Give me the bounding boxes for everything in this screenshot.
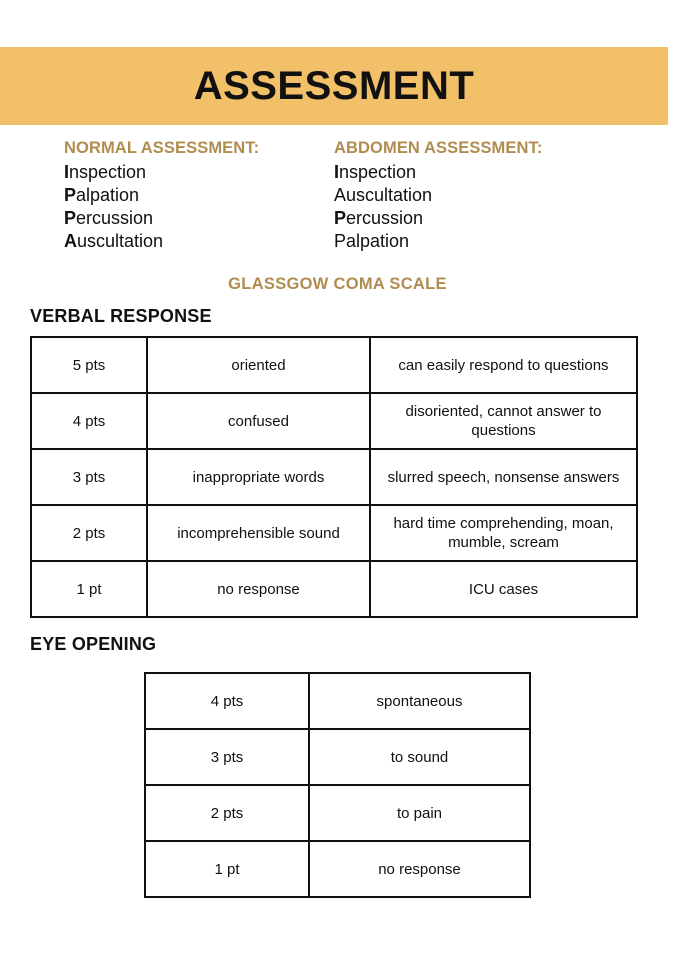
mnemonic-initial: P xyxy=(334,231,346,251)
list-item: Auscultation xyxy=(334,184,604,207)
list-item: Percussion xyxy=(64,207,334,230)
assessment-columns: NORMAL ASSESSMENT: Inspection Palpation … xyxy=(64,139,654,253)
list-item: Auscultation xyxy=(64,230,334,253)
mnemonic-rest: nspection xyxy=(69,162,146,182)
mnemonic-rest: uscultation xyxy=(346,185,432,205)
table-row: 3 pts inappropriate words slurred speech… xyxy=(31,449,637,505)
table-row: 4 pts confused disoriented, cannot answe… xyxy=(31,393,637,449)
abdomen-assessment-column: ABDOMEN ASSESSMENT: Inspection Auscultat… xyxy=(334,139,604,253)
points-cell: 1 pt xyxy=(31,561,147,617)
mnemonic-initial: P xyxy=(64,185,76,205)
mnemonic-rest: uscultation xyxy=(77,231,163,251)
points-cell: 3 pts xyxy=(145,729,309,785)
points-cell: 4 pts xyxy=(145,673,309,729)
eye-opening-table: 4 pts spontaneous 3 pts to sound 2 pts t… xyxy=(144,672,531,898)
list-item: Inspection xyxy=(334,161,604,184)
response-cell: oriented xyxy=(147,337,370,393)
normal-assessment-heading: NORMAL ASSESSMENT: xyxy=(64,139,334,158)
response-cell: no response xyxy=(147,561,370,617)
response-cell: inappropriate words xyxy=(147,449,370,505)
description-cell: disoriented, cannot answer to questions xyxy=(370,393,637,449)
description-cell: ICU cases xyxy=(370,561,637,617)
mnemonic-initial: P xyxy=(64,208,76,228)
description-cell: can easily respond to questions xyxy=(370,337,637,393)
eye-opening-label: EYE OPENING xyxy=(30,634,156,655)
list-item: Inspection xyxy=(64,161,334,184)
mnemonic-rest: nspection xyxy=(339,162,416,182)
points-cell: 2 pts xyxy=(31,505,147,561)
points-cell: 2 pts xyxy=(145,785,309,841)
points-cell: 1 pt xyxy=(145,841,309,897)
mnemonic-rest: alpation xyxy=(346,231,409,251)
mnemonic-initial: A xyxy=(334,185,346,205)
table-row: 1 pt no response xyxy=(145,841,530,897)
table-row: 2 pts to pain xyxy=(145,785,530,841)
response-cell: incomprehensible sound xyxy=(147,505,370,561)
verbal-response-table: 5 pts oriented can easily respond to que… xyxy=(30,336,638,618)
response-cell: to sound xyxy=(309,729,530,785)
header-banner: ASSESSMENT xyxy=(0,47,668,125)
mnemonic-rest: ercussion xyxy=(76,208,153,228)
response-cell: no response xyxy=(309,841,530,897)
points-cell: 5 pts xyxy=(31,337,147,393)
mnemonic-rest: alpation xyxy=(76,185,139,205)
points-cell: 4 pts xyxy=(31,393,147,449)
mnemonic-initial: P xyxy=(334,208,346,228)
table-row: 4 pts spontaneous xyxy=(145,673,530,729)
description-cell: slurred speech, nonsense answers xyxy=(370,449,637,505)
normal-assessment-column: NORMAL ASSESSMENT: Inspection Palpation … xyxy=(64,139,334,253)
mnemonic-initial: A xyxy=(64,231,77,251)
table-row: 3 pts to sound xyxy=(145,729,530,785)
description-cell: hard time comprehending, moan, mumble, s… xyxy=(370,505,637,561)
mnemonic-rest: ercussion xyxy=(346,208,423,228)
response-cell: spontaneous xyxy=(309,673,530,729)
list-item: Palpation xyxy=(334,230,604,253)
table-row: 2 pts incomprehensible sound hard time c… xyxy=(31,505,637,561)
table-row: 5 pts oriented can easily respond to que… xyxy=(31,337,637,393)
glasgow-coma-scale-title: GLASSGOW COMA SCALE xyxy=(0,275,675,294)
points-cell: 3 pts xyxy=(31,449,147,505)
verbal-response-label: VERBAL RESPONSE xyxy=(30,306,212,327)
response-cell: to pain xyxy=(309,785,530,841)
list-item: Palpation xyxy=(64,184,334,207)
page-title: ASSESSMENT xyxy=(194,66,475,106)
abdomen-assessment-heading: ABDOMEN ASSESSMENT: xyxy=(334,139,604,158)
table-row: 1 pt no response ICU cases xyxy=(31,561,637,617)
response-cell: confused xyxy=(147,393,370,449)
list-item: Percussion xyxy=(334,207,604,230)
